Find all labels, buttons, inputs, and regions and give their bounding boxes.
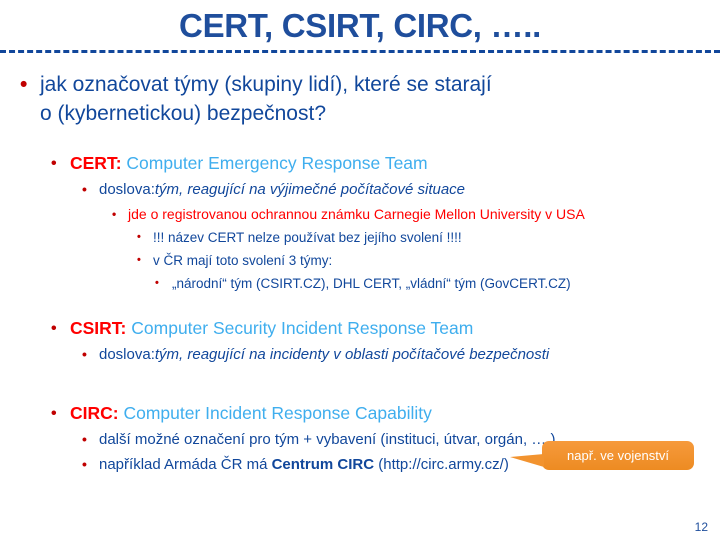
circ-expansion: Computer Incident Response Capability (123, 403, 431, 423)
bullet-icon: • (51, 150, 57, 177)
cert-cr-teams-intro-text: v ČR mají toto svolení 3 týmy: (153, 253, 332, 268)
intro-bullet-line-2: o (kybernetickou) bezpečnost? (0, 99, 720, 128)
title-divider (0, 50, 720, 53)
cert-literal-label: doslova: (99, 181, 155, 198)
bullet-icon: • (51, 400, 57, 427)
bullet-icon: • (82, 177, 87, 202)
circ-centrum-name: Centrum CIRC (272, 456, 375, 473)
spacer (0, 367, 720, 387)
csirt-literal: • doslova:tým, reagující na incidenty v … (0, 342, 720, 367)
csirt-literal-label: doslova: (99, 346, 155, 363)
circ-note-1-text: další možné označení pro tým + vybavení … (99, 431, 555, 448)
cert-expansion: Computer Emergency Response Team (126, 153, 427, 173)
callout-text: např. ve vojenství (567, 448, 669, 463)
circ-note-2-suffix: (http://circ.army.cz/) (374, 456, 509, 473)
circ-note-2-prefix: například Armáda ČR má (99, 456, 272, 473)
spacer (0, 128, 720, 150)
circ-acronym: CIRC: (70, 403, 119, 423)
cert-cr-teams-list: • „národní“ tým (CSIRT.CZ), DHL CERT, „v… (0, 272, 720, 295)
slide-body: • jak označovat týmy (skupiny lidí), kte… (0, 70, 720, 477)
bullet-icon: • (82, 342, 87, 367)
bullet-icon: • (20, 70, 27, 99)
cert-acronym: CERT: (70, 153, 122, 173)
bullet-icon: • (51, 315, 57, 342)
page-number: 12 (695, 520, 708, 534)
circ-heading: • CIRC: Computer Incident Response Capab… (0, 400, 720, 427)
cert-trademark: • jde o registrovanou ochrannou známku C… (0, 202, 720, 226)
bullet-icon: • (82, 452, 87, 477)
cert-warning: • !!! název CERT nelze používat bez její… (0, 226, 720, 249)
bullet-icon: • (137, 249, 141, 272)
cert-cr-teams-list-text: „národní“ tým (CSIRT.CZ), DHL CERT, „vlá… (172, 276, 571, 291)
callout-bubble: např. ve vojenství (542, 441, 694, 470)
intro-text-line-1: jak označovat týmy (skupiny lidí), které… (40, 73, 492, 96)
slide: CERT, CSIRT, CIRC, ….. • jak označovat t… (0, 0, 720, 540)
csirt-acronym: CSIRT: (70, 318, 126, 338)
cert-heading: • CERT: Computer Emergency Response Team (0, 150, 720, 177)
bullet-icon: • (112, 202, 116, 226)
callout-tail-icon (510, 454, 544, 467)
csirt-literal-text: tým, reagující na incidenty v oblasti po… (155, 346, 549, 363)
bullet-icon: • (137, 226, 141, 249)
cert-literal-text: tým, reagující na výjimečné počítačové s… (155, 181, 465, 198)
cert-literal: • doslova:tým, reagující na výjimečné po… (0, 177, 720, 202)
bullet-icon: • (82, 427, 87, 452)
csirt-expansion: Computer Security Incident Response Team (131, 318, 473, 338)
intro-text-line-2: o (kybernetickou) bezpečnost? (40, 102, 326, 125)
cert-trademark-text: jde o registrovanou ochrannou známku Car… (128, 206, 585, 222)
spacer (0, 295, 720, 315)
cert-cr-teams-intro: • v ČR mají toto svolení 3 týmy: (0, 249, 720, 272)
spacer (0, 387, 720, 400)
slide-title: CERT, CSIRT, CIRC, ….. (0, 4, 720, 48)
cert-warning-text: !!! název CERT nelze používat bez jejího… (153, 230, 462, 245)
bullet-icon: • (155, 272, 159, 295)
intro-bullet-line-1: • jak označovat týmy (skupiny lidí), kte… (0, 70, 720, 99)
csirt-heading: • CSIRT: Computer Security Incident Resp… (0, 315, 720, 342)
